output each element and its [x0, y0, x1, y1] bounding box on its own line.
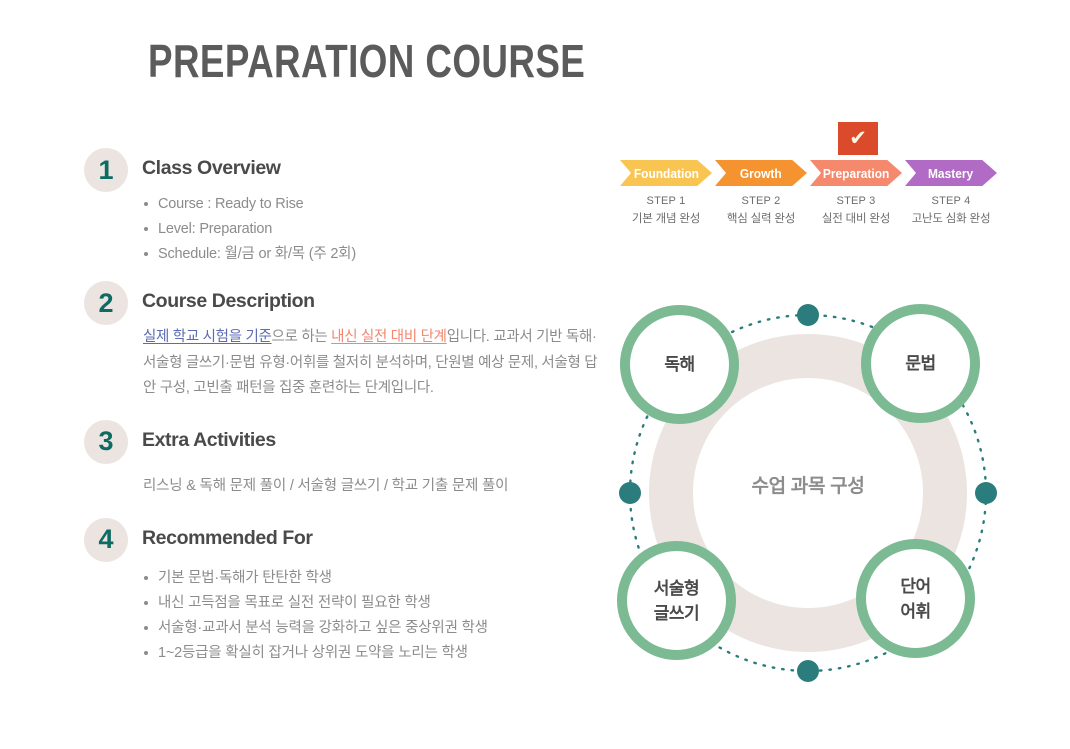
step-label: Mastery [928, 166, 973, 181]
section-number: 3 [84, 420, 128, 464]
step-number: STEP 3 [810, 195, 902, 207]
node-label-line1: 독해 [664, 352, 694, 377]
step-chevron: Mastery [905, 160, 997, 186]
step-progress-bar: Foundation STEP 1 기본 개념 완성 Growth STEP 2… [620, 160, 1010, 230]
page-title: PREPARATION COURSE [148, 34, 585, 88]
diagram-node-vocabulary[interactable]: 단어 어휘 [856, 539, 975, 658]
node-label-line2: 글쓰기 [654, 601, 699, 626]
step-description: 고난도 심화 완성 [905, 210, 997, 226]
diagram-node-grammar[interactable]: 문법 [861, 304, 980, 423]
step-chevron: Foundation [620, 160, 712, 186]
section-recommended-for: 4 Recommended For 기본 문법·독해가 탄탄한 학생 내신 고득… [84, 518, 604, 666]
section-extra-activities: 3 Extra Activities 리스닝 & 독해 문제 풀이 / 서술형 … [84, 420, 604, 499]
course-info-column: 1 Class Overview Course : Ready to Rise … [84, 148, 604, 666]
node-label-line2: 어휘 [900, 599, 930, 624]
diagram-center-label: 수업 과목 구성 [608, 471, 1008, 498]
section-class-overview: 1 Class Overview Course : Ready to Rise … [84, 148, 604, 267]
extra-activities-line: 리스닝 & 독해 문제 풀이 / 서술형 글쓰기 / 학교 기출 문제 풀이 [84, 474, 604, 499]
step-label: Preparation [823, 166, 889, 181]
node-label-line1: 문법 [905, 351, 935, 376]
section-header: 2 Course Description [84, 281, 604, 325]
section-header: 4 Recommended For [84, 518, 604, 562]
section-title: Course Description [142, 290, 315, 313]
step-item-growth[interactable]: Growth STEP 2 핵심 실력 완성 [715, 160, 807, 226]
step-number: STEP 2 [715, 195, 807, 207]
section-number: 4 [84, 518, 128, 562]
diagram-node-reading[interactable]: 독해 [620, 305, 739, 424]
list-item: 기본 문법·독해가 탄탄한 학생 [143, 566, 604, 591]
step-description: 실전 대비 완성 [810, 210, 902, 226]
section-header: 1 Class Overview [84, 148, 604, 192]
node-label-line1: 서술형 [654, 576, 699, 601]
step-label: Growth [740, 166, 782, 181]
subject-composition-diagram: 수업 과목 구성 독해 문법 서술형 글쓰기 단어 어휘 [608, 293, 1008, 693]
step-chevron: Preparation [810, 160, 902, 186]
list-item: Level: Preparation [143, 217, 604, 242]
step-item-preparation[interactable]: Preparation STEP 3 실전 대비 완성 [810, 160, 902, 226]
section-number: 2 [84, 281, 128, 325]
section-title: Extra Activities [142, 429, 276, 452]
step-number: STEP 4 [905, 195, 997, 207]
section-number: 1 [84, 148, 128, 192]
list-item: 내신 고득점을 목표로 실전 전략이 필요한 학생 [143, 591, 604, 616]
list-item: Schedule: 월/금 or 화/목 (주 2회) [143, 242, 604, 267]
section-title: Class Overview [142, 157, 281, 180]
list-item: 1~2등급을 확실히 잡거나 상위권 도약을 노리는 학생 [143, 641, 604, 666]
section-header: 3 Extra Activities [84, 420, 604, 464]
highlight-blue: 실제 학교 시험을 기준 [143, 329, 272, 345]
diagram-dot-bottom [797, 660, 819, 682]
section-title: Recommended For [142, 527, 313, 550]
step-description: 핵심 실력 완성 [715, 210, 807, 226]
paragraph-mid: 으로 하는 [272, 329, 332, 345]
node-label-line1: 단어 [900, 574, 930, 599]
diagram-node-writing[interactable]: 서술형 글쓰기 [617, 541, 736, 660]
step-item-foundation[interactable]: Foundation STEP 1 기본 개념 완성 [620, 160, 712, 226]
step-chevron: Growth [715, 160, 807, 186]
highlight-coral: 내신 실전 대비 단계 [331, 329, 447, 345]
diagram-dot-top [797, 304, 819, 326]
list-item: Course : Ready to Rise [143, 192, 604, 217]
step-item-mastery[interactable]: Mastery STEP 4 고난도 심화 완성 [905, 160, 997, 226]
section-course-description: 2 Course Description 실제 학교 시험을 기준으로 하는 내… [84, 281, 604, 402]
check-icon: ✔ [849, 128, 867, 149]
step-label: Foundation [633, 166, 698, 181]
course-description-paragraph: 실제 학교 시험을 기준으로 하는 내신 실전 대비 단계입니다. 교과서 기반… [84, 325, 598, 402]
recommended-for-list: 기본 문법·독해가 탄탄한 학생 내신 고득점을 목표로 실전 전략이 필요한 … [84, 566, 604, 666]
current-step-check-badge: ✔ [838, 122, 878, 155]
step-number: STEP 1 [620, 195, 712, 207]
step-description: 기본 개념 완성 [620, 210, 712, 226]
class-overview-list: Course : Ready to Rise Level: Preparatio… [84, 192, 604, 267]
list-item: 서술형·교과서 분석 능력을 강화하고 싶은 중상위권 학생 [143, 616, 604, 641]
